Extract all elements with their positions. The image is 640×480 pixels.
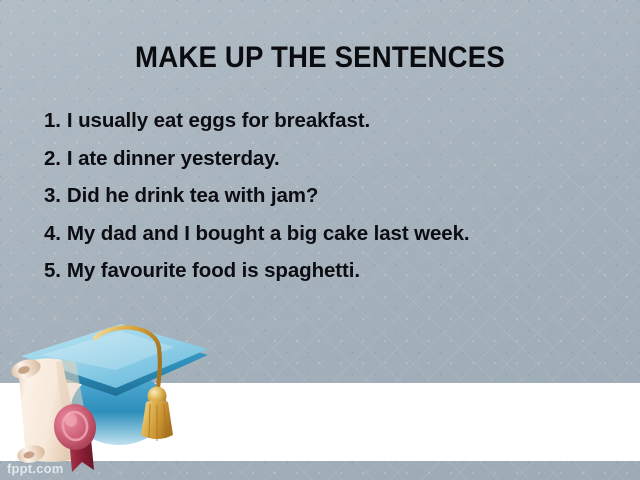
sentence-list: 1. I usually eat eggs for breakfast. 2. … [44, 108, 514, 296]
list-item-number: 2. [44, 146, 61, 171]
list-item: 5. My favourite food is spaghetti. [44, 258, 514, 283]
list-item: 3. Did he drink tea with jam? [44, 183, 514, 208]
list-item-text: I ate dinner yesterday. [67, 146, 514, 171]
list-item: 1. I usually eat eggs for breakfast. [44, 108, 514, 133]
list-item-text: My dad and I bought a big cake last week… [67, 221, 514, 246]
list-item-number: 4. [44, 221, 61, 246]
presentation-slide: MAKE UP THE SENTENCES 1. I usually eat e… [0, 0, 640, 480]
list-item-number: 5. [44, 258, 61, 283]
list-item-text: I usually eat eggs for breakfast. [67, 108, 514, 133]
page-title: MAKE UP THE SENTENCES [26, 41, 615, 75]
white-band [0, 383, 640, 461]
list-item-number: 3. [44, 183, 61, 208]
list-item-text: My favourite food is spaghetti. [67, 258, 514, 283]
list-item-text: Did he drink tea with jam? [67, 183, 514, 208]
list-item: 2. I ate dinner yesterday. [44, 146, 514, 171]
watermark: fppt.com [7, 461, 63, 476]
list-item: 4. My dad and I bought a big cake last w… [44, 221, 514, 246]
list-item-number: 1. [44, 108, 61, 133]
